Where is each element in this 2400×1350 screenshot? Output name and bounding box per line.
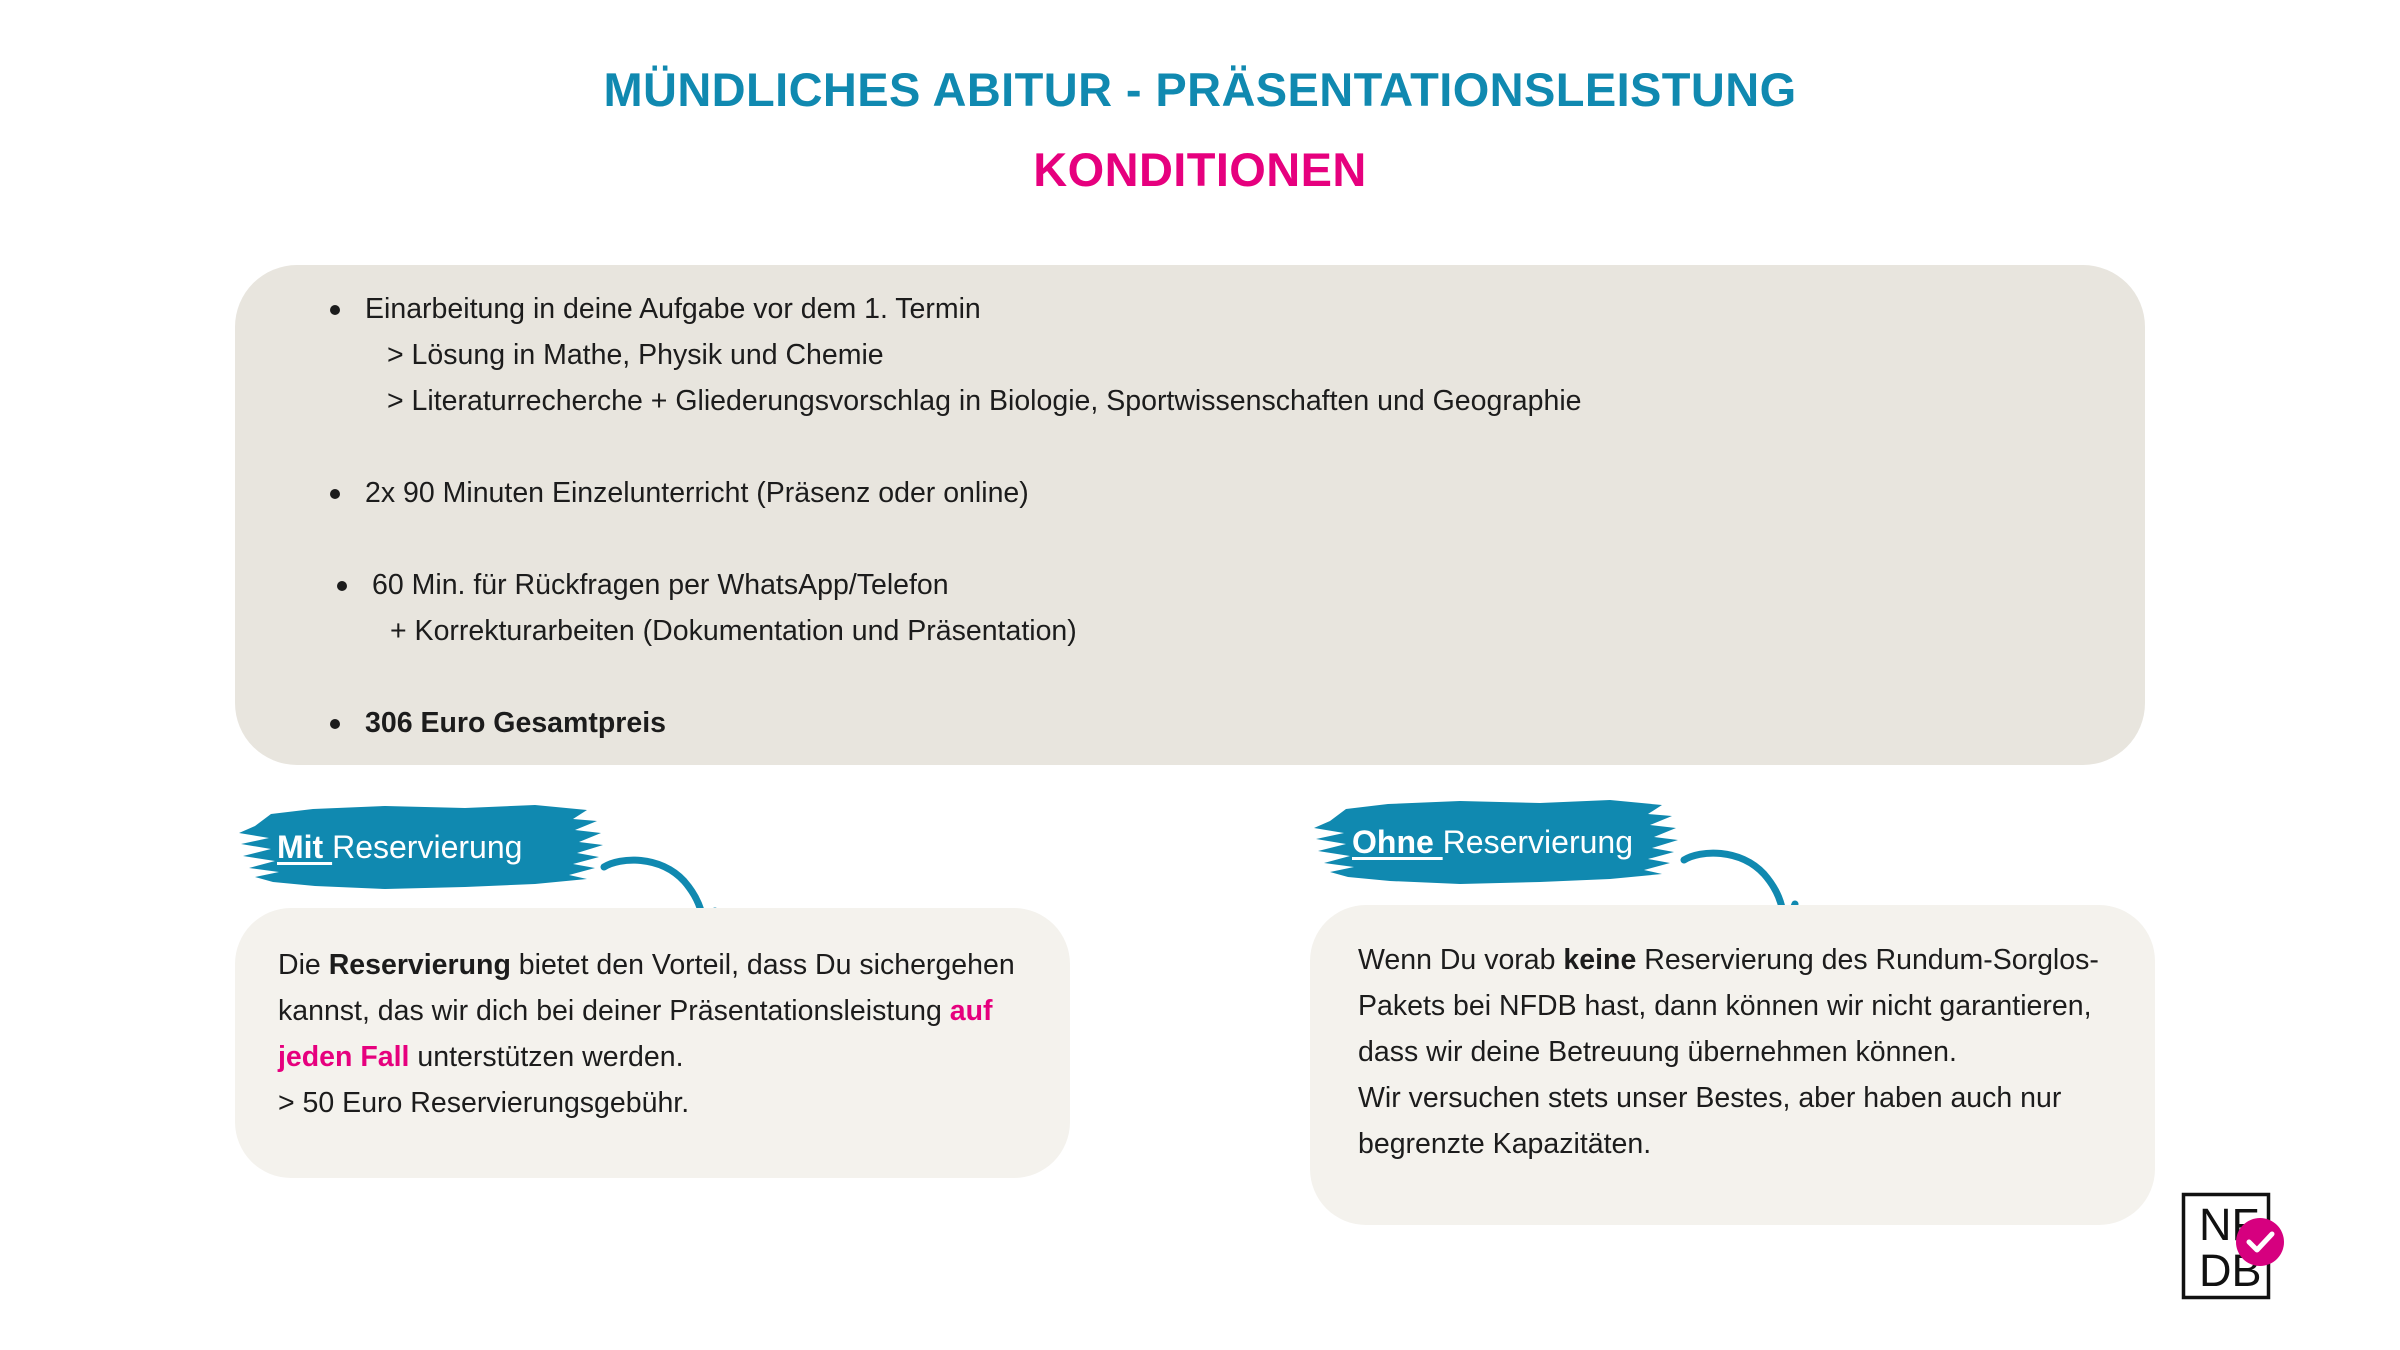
text-run-bold: Reservierung [329, 949, 511, 981]
heading-rest-word: Reservierung [332, 829, 522, 865]
slide-canvas: MÜNDLICHES ABITUR - PRÄSENTATIONSLEISTUN… [0, 0, 2400, 1350]
card-body-text: Wenn Du vorab keine Reservierung des Run… [1358, 937, 2118, 1167]
list-item: 60 Min. für Rückfragen per WhatsApp/Tele… [320, 562, 2105, 654]
text-run: Die [278, 949, 329, 981]
logo-mark-icon: NF DB [2181, 1192, 2293, 1300]
list-item: 2x 90 Minuten Einzelunterricht (Präsenz … [320, 470, 2105, 516]
conditions-panel-content: Einarbeitung in deine Aufgabe vor dem 1.… [320, 286, 2105, 746]
bullet-text: Einarbeitung in deine Aufgabe vor dem 1.… [365, 293, 981, 325]
page-subtitle: KONDITIONEN [0, 142, 2400, 197]
text-run: Wir versuchen stets unser Bestes, aber h… [1358, 1082, 2061, 1160]
bullet-text: 60 Min. für Rückfragen per WhatsApp/Tele… [372, 569, 949, 601]
text-run-bold: keine [1563, 944, 1636, 976]
check-badge-icon [2236, 1218, 2284, 1266]
card-body-text: Die Reservierung bietet den Vorteil, das… [278, 942, 1033, 1126]
highlight-heading-label: Ohne Reservierung [1352, 821, 1633, 863]
highlight-heading-label: Mit Reservierung [277, 826, 522, 868]
heading-lead-word: Mit [277, 829, 332, 865]
bullet-subline: > Lösung in Mathe, Physik und Chemie [365, 332, 2105, 378]
conditions-panel: Einarbeitung in deine Aufgabe vor dem 1.… [235, 265, 2145, 765]
text-run: unterstützen werden. [409, 1041, 683, 1073]
section-with-reservation: Mit Reservierung [235, 800, 655, 896]
page-title: MÜNDLICHES ABITUR - PRÄSENTATIONSLEISTUN… [0, 62, 2400, 117]
section-without-reservation: Ohne Reservierung [1310, 795, 1730, 891]
heading-rest-word: Reservierung [1443, 824, 1633, 860]
highlight-heading-without-reservation: Ohne Reservierung [1310, 795, 1730, 891]
bullet-subline: + Korrekturarbeiten (Dokumentation und P… [372, 608, 2105, 654]
highlight-heading-with-reservation: Mit Reservierung [235, 800, 655, 896]
nfdb-logo: NF DB [2181, 1192, 2293, 1300]
heading-lead-word: Ohne [1352, 824, 1443, 860]
list-item: Einarbeitung in deine Aufgabe vor dem 1.… [320, 286, 2105, 424]
card-with-reservation: Die Reservierung bietet den Vorteil, das… [235, 908, 1070, 1178]
bullet-text: 2x 90 Minuten Einzelunterricht (Präsenz … [365, 477, 1029, 509]
card-without-reservation: Wenn Du vorab keine Reservierung des Run… [1310, 905, 2155, 1225]
text-run: Wenn Du vorab [1358, 944, 1563, 976]
bullet-subline: > Literaturrecherche + Gliederungsvorsch… [365, 378, 2105, 424]
bullet-text: 306 Euro Gesamtpreis [365, 707, 666, 739]
conditions-list: Einarbeitung in deine Aufgabe vor dem 1.… [320, 286, 2105, 746]
text-run-fee: > 50 Euro Reservierungsgebühr. [278, 1087, 689, 1119]
list-item-price: 306 Euro Gesamtpreis [320, 700, 2105, 746]
